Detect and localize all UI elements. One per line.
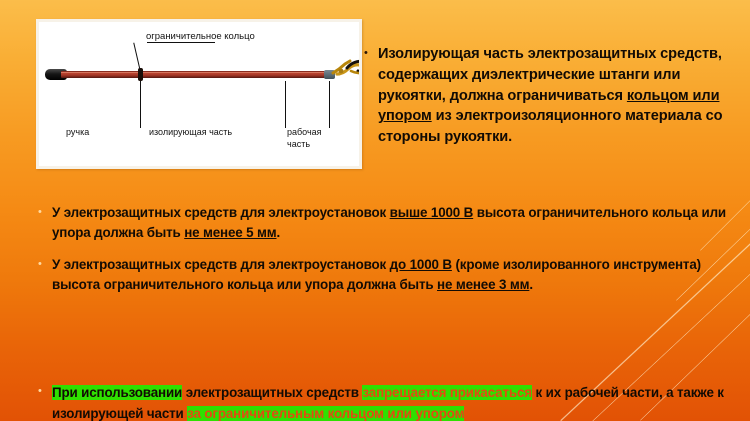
under-1000v-underlined-height: не менее 3 мм: [437, 277, 529, 292]
above-1000v-underlined-voltage: выше 1000 В: [390, 205, 474, 220]
bullet-prohibition-text: При использовании электрозащитных средст…: [52, 382, 744, 421]
under-1000v-part3: .: [529, 277, 533, 292]
bullet-marker-icon: •: [364, 44, 378, 62]
bullet-under-1000v-text: У электрозащитных средств для электроуст…: [52, 255, 748, 295]
under-1000v-underlined-voltage: до 1000 В: [390, 257, 452, 272]
label-working-part: рабочая часть: [287, 126, 335, 150]
prohibition-highlight-1: При использовании: [52, 385, 182, 400]
illustration-panel: ограничительное кольцо ручка изолирующая…: [36, 19, 362, 169]
label-limiting-ring: ограничительное кольцо: [146, 31, 255, 42]
rod-working-hook-icon: [331, 58, 359, 82]
bullet-main: • Изолирующая часть электрозащитных сред…: [364, 44, 744, 148]
rod-highlight: [61, 72, 333, 73]
bullet-prohibition: • При использовании электрозащитных сред…: [38, 382, 744, 421]
bullet-above-1000v-text: У электрозащитных средств для электроуст…: [52, 203, 738, 243]
bullet-marker-icon: •: [38, 255, 52, 273]
prohibition-highlight-2: запрещается прикасаться: [362, 385, 532, 400]
label-insulating-part: изолирующая часть: [149, 127, 232, 137]
bullet-above-1000v: • У электрозащитных средств для электроу…: [38, 203, 738, 243]
label-handle: ручка: [66, 127, 89, 137]
leader-insulating-right: [285, 81, 286, 128]
bullet-main-text: Изолирующая часть электрозащитных средст…: [378, 44, 744, 148]
above-1000v-underlined-height: не менее 5 мм: [184, 225, 276, 240]
illustration-canvas: ограничительное кольцо ручка изолирующая…: [39, 22, 359, 166]
prohibition-plain-1: электрозащитных средств: [182, 385, 362, 400]
above-1000v-part3: .: [277, 225, 281, 240]
bullet-marker-icon: •: [38, 203, 52, 221]
bullet-under-1000v: • У электрозащитных средств для электроу…: [38, 255, 748, 295]
leader-ring-diagonal: [133, 43, 141, 72]
slide-canvas: ограничительное кольцо ручка изолирующая…: [0, 0, 750, 421]
above-1000v-part1: У электрозащитных средств для электроуст…: [52, 205, 390, 220]
leader-ring-horizontal: [147, 42, 215, 43]
leader-working-right: [329, 81, 330, 128]
bullet-marker-icon: •: [38, 382, 52, 400]
under-1000v-part1: У электрозащитных средств для электроуст…: [52, 257, 390, 272]
prohibition-highlight-3: за ограничительным кольцом или упором: [187, 406, 464, 421]
leader-insulating-left: [140, 81, 141, 128]
